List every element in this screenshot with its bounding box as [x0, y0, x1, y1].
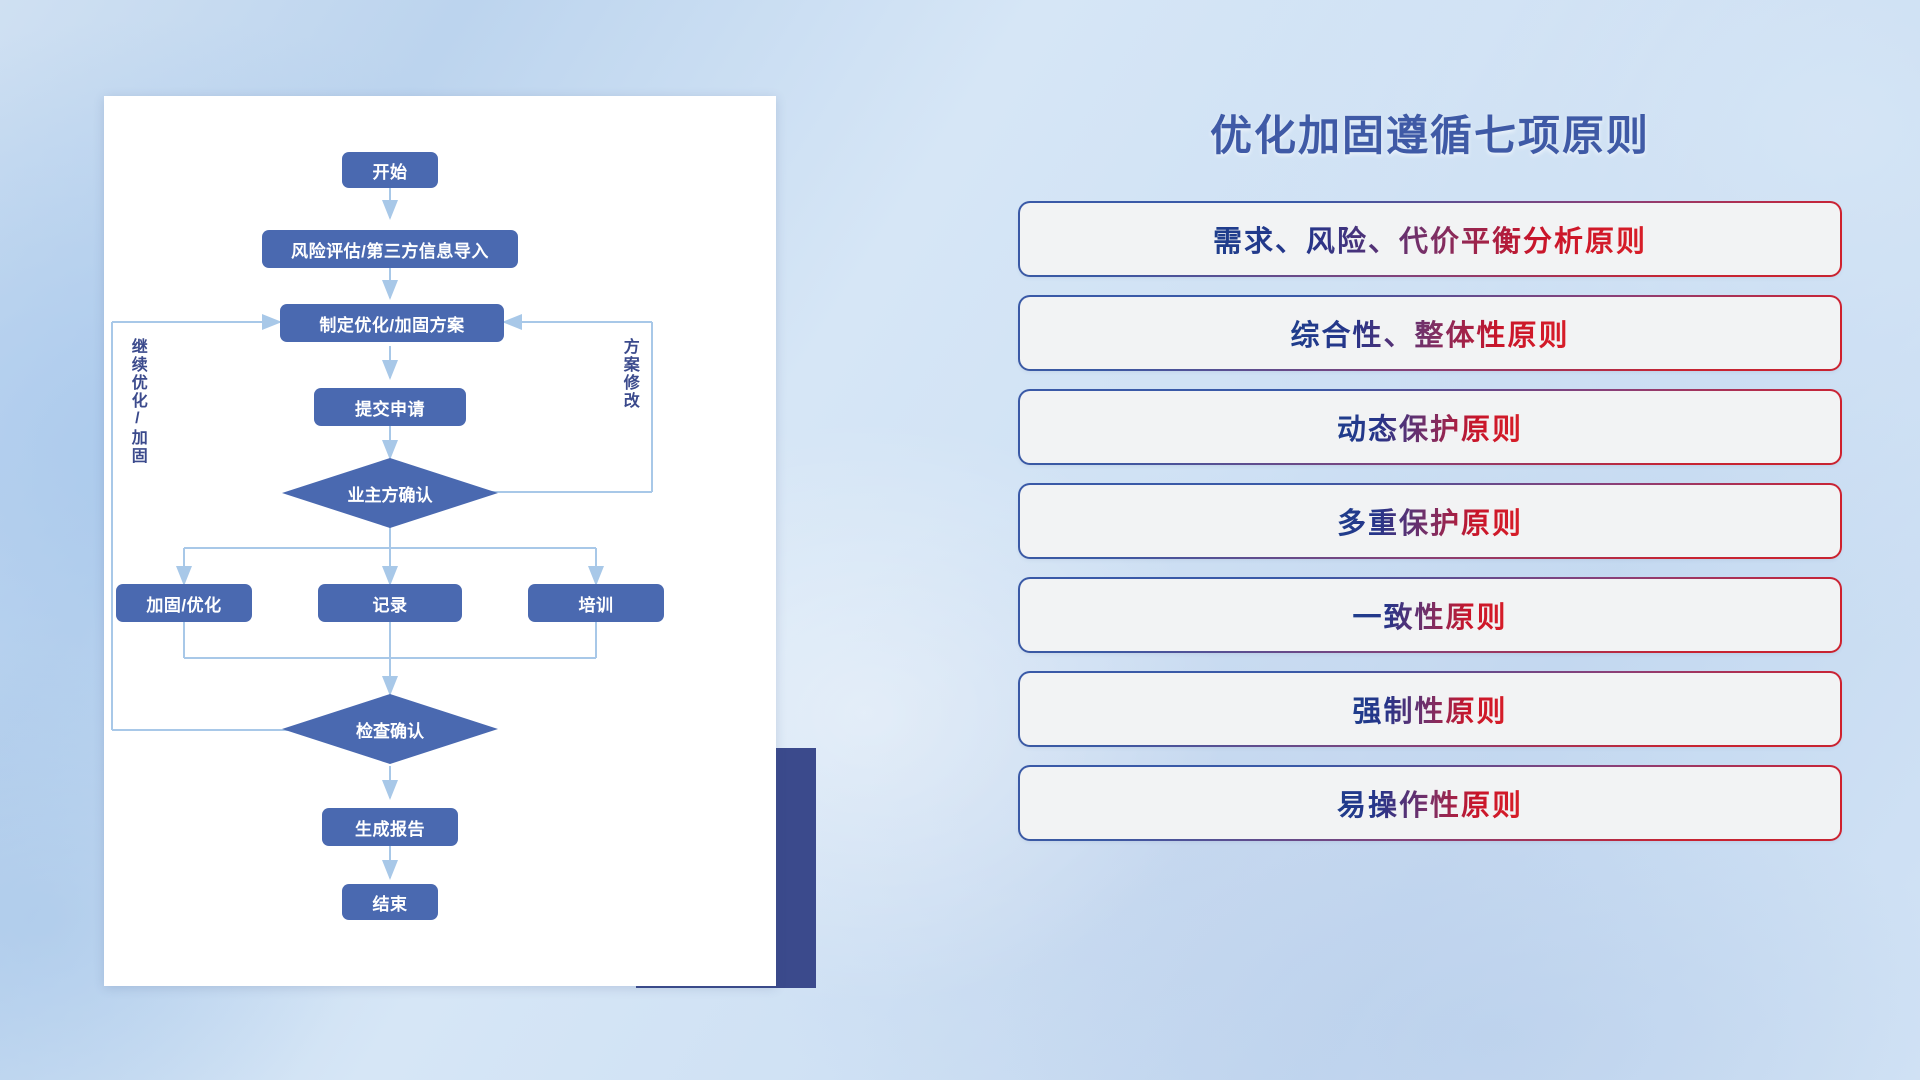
- flow-node-label: 检查确认: [356, 717, 424, 742]
- flow-node-check-confirm[interactable]: 检查确认: [282, 694, 498, 764]
- principle-item[interactable]: 动态保护原则: [1020, 391, 1840, 463]
- flow-node-end[interactable]: 结束: [342, 884, 438, 920]
- flow-node-label: 业主方确认: [348, 481, 433, 506]
- flow-node-risk-assessment[interactable]: 风险评估/第三方信息导入: [262, 230, 518, 268]
- edge-label-continue-optimize: 继续优化/加固: [128, 338, 145, 465]
- principle-item[interactable]: 强制性原则: [1020, 673, 1840, 745]
- principle-item[interactable]: 多重保护原则: [1020, 485, 1840, 557]
- flow-node-submit-application[interactable]: 提交申请: [314, 388, 466, 426]
- flow-node-start[interactable]: 开始: [342, 152, 438, 188]
- flow-node-label: 培训: [579, 591, 614, 616]
- flowchart: 开始 风险评估/第三方信息导入 制定优化/加固方案 提交申请 业主方确认 加固/…: [104, 96, 776, 986]
- principle-item[interactable]: 易操作性原则: [1020, 767, 1840, 839]
- flow-node-label: 风险评估/第三方信息导入: [291, 237, 489, 262]
- flow-node-label: 记录: [373, 591, 408, 616]
- flow-node-record[interactable]: 记录: [318, 584, 462, 622]
- principles-panel: 优化加固遵循七项原则 需求、风险、代价平衡分析原则 综合性、整体性原则 动态保护…: [1020, 96, 1840, 996]
- principle-label: 强制性原则: [1352, 688, 1507, 730]
- flow-node-owner-confirm[interactable]: 业主方确认: [282, 458, 498, 528]
- principle-label: 易操作性原则: [1337, 782, 1523, 824]
- principle-item[interactable]: 综合性、整体性原则: [1020, 297, 1840, 369]
- flowchart-card: 开始 风险评估/第三方信息导入 制定优化/加固方案 提交申请 业主方确认 加固/…: [104, 96, 776, 986]
- flow-node-training[interactable]: 培训: [528, 584, 664, 622]
- flow-node-label: 生成报告: [355, 815, 425, 840]
- principle-item[interactable]: 一致性原则: [1020, 579, 1840, 651]
- flow-node-label: 开始: [373, 158, 408, 183]
- flow-node-reinforce-optimize[interactable]: 加固/优化: [116, 584, 252, 622]
- principle-label: 综合性、整体性原则: [1290, 312, 1569, 354]
- principle-label: 多重保护原则: [1337, 500, 1523, 542]
- flow-node-make-plan[interactable]: 制定优化/加固方案: [280, 304, 504, 342]
- flow-node-generate-report[interactable]: 生成报告: [322, 808, 458, 846]
- principles-list: 需求、风险、代价平衡分析原则 综合性、整体性原则 动态保护原则 多重保护原则 一…: [1020, 203, 1840, 839]
- flow-node-label: 提交申请: [355, 395, 425, 420]
- edge-label-plan-revision: 方案修改: [620, 338, 637, 410]
- principle-label: 需求、风险、代价平衡分析原则: [1213, 218, 1647, 260]
- flow-node-label: 加固/优化: [146, 591, 221, 616]
- flow-node-label: 制定优化/加固方案: [319, 311, 464, 336]
- flow-node-label: 结束: [373, 890, 408, 915]
- page-title: 优化加固遵循七项原则: [1020, 102, 1840, 163]
- principle-label: 动态保护原则: [1337, 406, 1523, 448]
- principle-label: 一致性原则: [1352, 594, 1507, 636]
- principle-item[interactable]: 需求、风险、代价平衡分析原则: [1020, 203, 1840, 275]
